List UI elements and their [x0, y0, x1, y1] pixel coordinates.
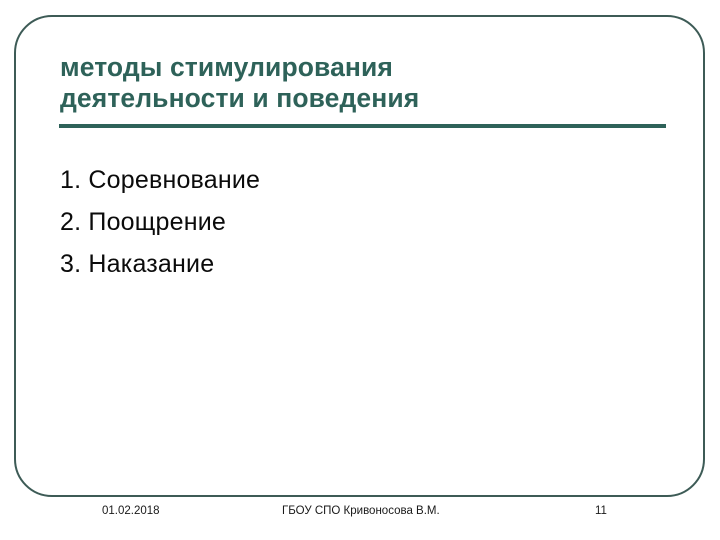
slide-footer: 01.02.2018 ГБОУ СПО Кривоносова В.М. 11: [14, 505, 705, 527]
footer-page-number: 11: [595, 505, 607, 517]
footer-date: 01.02.2018: [102, 505, 160, 517]
title-block: методы стимулирования деятельности и пов…: [60, 52, 668, 114]
content-list: 1. Соревнование 2. Поощрение 3. Наказани…: [60, 159, 660, 285]
presentation-slide: методы стимулирования деятельности и пов…: [0, 0, 720, 540]
footer-organization: ГБОУ СПО Кривоносова В.М.: [282, 505, 440, 517]
list-item: 1. Соревнование: [60, 159, 660, 201]
list-item: 2. Поощрение: [60, 201, 660, 243]
title-underline-rule: [59, 124, 666, 128]
list-item: 3. Наказание: [60, 243, 660, 285]
slide-title: методы стимулирования деятельности и пов…: [60, 52, 668, 114]
